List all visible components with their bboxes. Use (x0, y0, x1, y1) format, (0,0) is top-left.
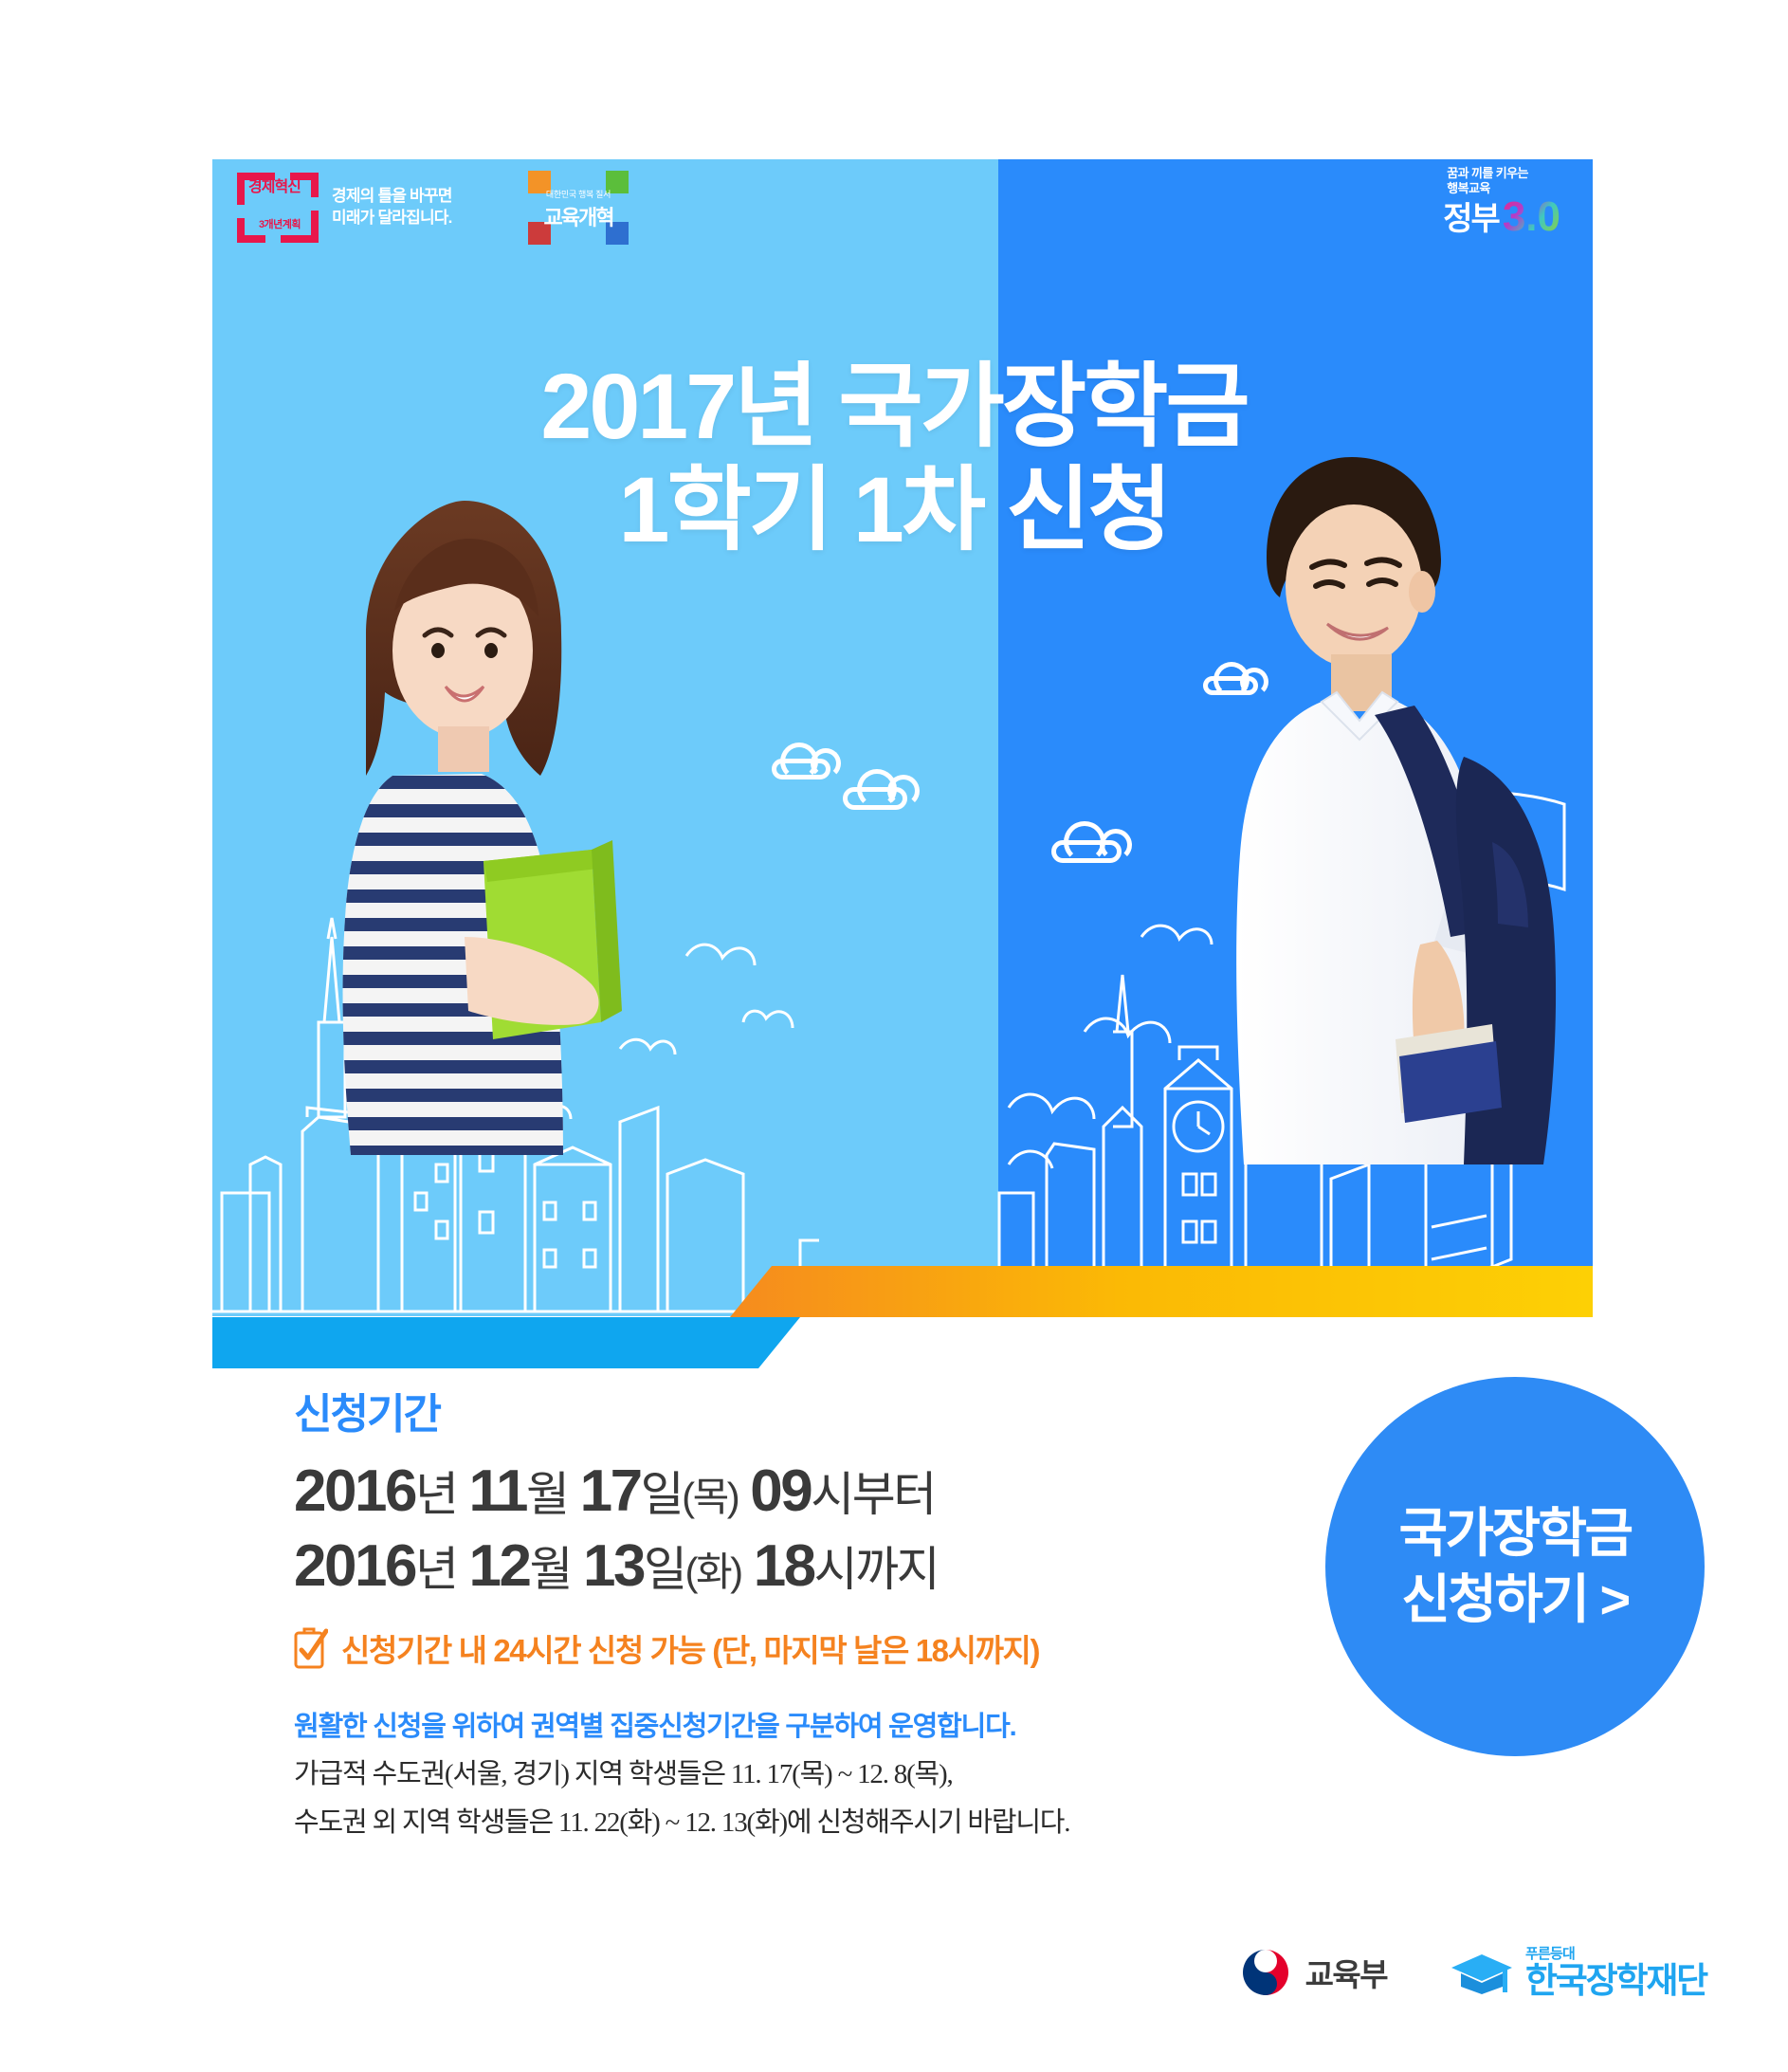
kosaf-name: 한국장학재단 (1525, 1963, 1706, 1998)
cloud-icon (843, 787, 907, 810)
end-month-unit: 월 (529, 1543, 571, 1596)
application-end-date: 2016년 12월 13일(화) 18시까지 (294, 1529, 1270, 1604)
econ-mark-line3: 3개년계획 (246, 220, 313, 230)
edu-reform-word: 교육개혁 (526, 201, 630, 231)
end-hour-number: 18 (754, 1533, 814, 1599)
start-weekday: (목) (682, 1475, 738, 1519)
kosaf-tagline: 푸른등대 (1525, 1947, 1706, 1961)
start-hour-unit: 시부터 (811, 1468, 935, 1521)
end-year-unit: 년 (415, 1543, 457, 1596)
taegeuk-icon (1239, 1946, 1292, 1999)
end-month-number: 12 (469, 1533, 530, 1599)
start-year-number: 2016 (294, 1458, 415, 1524)
start-month-unit: 월 (526, 1468, 568, 1521)
econ-mark-line1: 경제 (248, 179, 274, 195)
application-info: 신청기간 2016년 11월 17일(목) 09시부터 2016년 12월 13… (294, 1380, 1270, 1847)
end-day-number: 13 (583, 1533, 644, 1599)
application-start-date: 2016년 11월 17일(목) 09시부터 (294, 1454, 1270, 1529)
econ-tagline-line1: 경제의 틀을 바꾸면 (332, 186, 452, 208)
kosaf-text: 푸른등대 한국장학재단 (1525, 1947, 1706, 1998)
start-hour-number: 09 (750, 1458, 811, 1524)
poster-root: EDU (0, 0, 1788, 2072)
logo-education-reform: 대한민국 행복 질서 교육개혁 (526, 169, 630, 247)
decorative-bar-cyan (212, 1317, 800, 1368)
poster-title-line2: 1학기 1차 신청 (212, 459, 1576, 562)
cloud-icon (772, 759, 830, 779)
regional-schedule-paragraph: 원활한 신청을 위하여 권역별 집중신청기간을 구분하여 운영합니다. 가급적 … (294, 1703, 1270, 1847)
logo-government-30: 꿈과 끼를 키우는 행복교육 정부 3.0 (1443, 166, 1560, 234)
edu-reform-caption: 대한민국 행복 질서 (526, 188, 630, 200)
gov-version: 3.0 (1503, 199, 1560, 234)
end-year-number: 2016 (294, 1533, 415, 1599)
availability-note-row: 신청기간 내 24시간 신청 가능 (단, 마지막 날은 18시까지) (294, 1625, 1270, 1671)
poster-title-line1: 2017년 국가장학금 (540, 355, 1247, 458)
checklist-clipboard-icon (294, 1627, 328, 1669)
cloud-icon (1051, 840, 1122, 863)
hero-banner: EDU (212, 159, 1593, 1316)
availability-note-text: 신청기간 내 24시간 신청 가능 (단, 마지막 날은 18시까지) (341, 1625, 1039, 1671)
gov-word: 정부 (1443, 204, 1499, 234)
gov-sub-line1: 꿈과 끼를 키우는 (1447, 166, 1560, 181)
regional-schedule-line2: 가급적 수도권(서울, 경기) 지역 학생들은 11. 17(목) ~ 12. … (294, 1751, 1270, 1799)
application-period-heading: 신청기간 (294, 1380, 1270, 1440)
start-year-unit: 년 (415, 1468, 457, 1521)
logo-economic-innovation: 경제혁신 3개년계획 경제의 틀을 바꾸면 미래가 달라집니다. (237, 173, 452, 243)
econ-mark-line2: 혁신 (274, 179, 300, 195)
decorative-bar-orange (730, 1266, 1593, 1317)
econ-tagline-line2: 미래가 달라집니다. (332, 208, 452, 229)
end-day-unit: 일 (644, 1543, 685, 1596)
graduation-cap-icon (1448, 1949, 1516, 1998)
start-day-number: 17 (580, 1458, 641, 1524)
end-weekday: (화) (685, 1549, 741, 1594)
start-month-number: 11 (469, 1458, 527, 1524)
end-hour-unit: 시까지 (814, 1543, 939, 1596)
regional-schedule-line3: 수도권 외 지역 학생들은 11. 22(화) ~ 12. 13(화)에 신청해… (294, 1799, 1270, 1847)
footer-logos: 교육부 푸른등대 한국장학재단 (1239, 1946, 1706, 1999)
student-female-photo (279, 491, 639, 1155)
economic-innovation-mark: 경제혁신 3개년계획 (237, 173, 319, 243)
cta-line1: 국가장학금 (1398, 1500, 1631, 1567)
ministry-name: 교육부 (1305, 1950, 1387, 1995)
logo-ministry-of-education: 교육부 (1239, 1946, 1387, 1999)
poster-title: 2017년 국가장학금 1학기 1차 신청 (212, 356, 1576, 561)
cta-line2: 신청하기 > (1401, 1567, 1628, 1633)
start-day-unit: 일 (641, 1468, 683, 1521)
apply-scholarship-button[interactable]: 국가장학금 신청하기 > (1325, 1377, 1705, 1756)
economic-innovation-tagline: 경제의 틀을 바꾸면 미래가 달라집니다. (332, 186, 452, 229)
regional-schedule-line1: 원활한 신청을 위하여 권역별 집중신청기간을 구분하여 운영합니다. (294, 1703, 1270, 1751)
logo-kosaf: 푸른등대 한국장학재단 (1448, 1947, 1706, 1998)
